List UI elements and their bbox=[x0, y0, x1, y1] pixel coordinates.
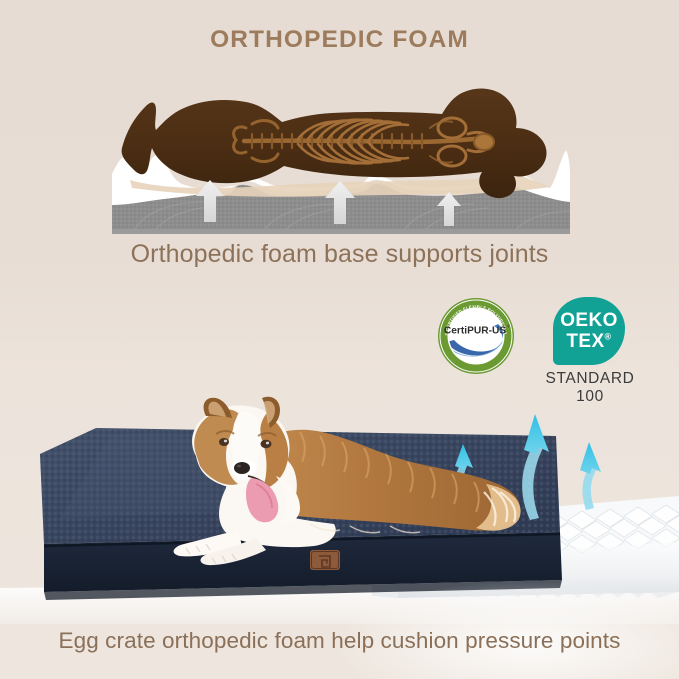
oeko-standard-word: STANDARD bbox=[525, 370, 655, 388]
oeko-tex-line2: TEX® bbox=[566, 332, 611, 351]
caption-orthopedic-base: Orthopedic foam base supports joints bbox=[0, 240, 679, 269]
caption-egg-crate: Egg crate orthopedic foam help cushion p… bbox=[0, 628, 679, 654]
registered-icon: ® bbox=[605, 332, 612, 342]
oeko-tex-line1: OEKO bbox=[560, 311, 618, 330]
dog-silhouette-topdown bbox=[122, 89, 547, 199]
product-marketing-image: ORTHOPEDIC FOAM bbox=[0, 0, 679, 679]
orthopedic-foam-cross-section-diagram bbox=[112, 84, 570, 234]
dog-eye-left bbox=[219, 438, 229, 446]
certipur-wordmark: CertiPUR-US bbox=[444, 326, 506, 337]
oeko-tex-blob: OEKO TEX® bbox=[553, 297, 625, 365]
page-title: ORTHOPEDIC FOAM bbox=[0, 26, 679, 54]
bed-logo-patch bbox=[310, 550, 340, 570]
product-photo-dog-on-bed bbox=[0, 392, 679, 624]
certipur-trademark-icon: ® bbox=[507, 324, 510, 329]
dog-nose bbox=[234, 462, 250, 474]
airflow-arrow-3 bbox=[580, 442, 601, 510]
certipur-us-badge: CONTAINS CERTIFIED FLEXIBLE POLYURETHANE… bbox=[438, 298, 514, 374]
oeko-tex-badge: OEKO TEX® bbox=[553, 297, 625, 365]
dog-eye-right bbox=[261, 440, 272, 448]
